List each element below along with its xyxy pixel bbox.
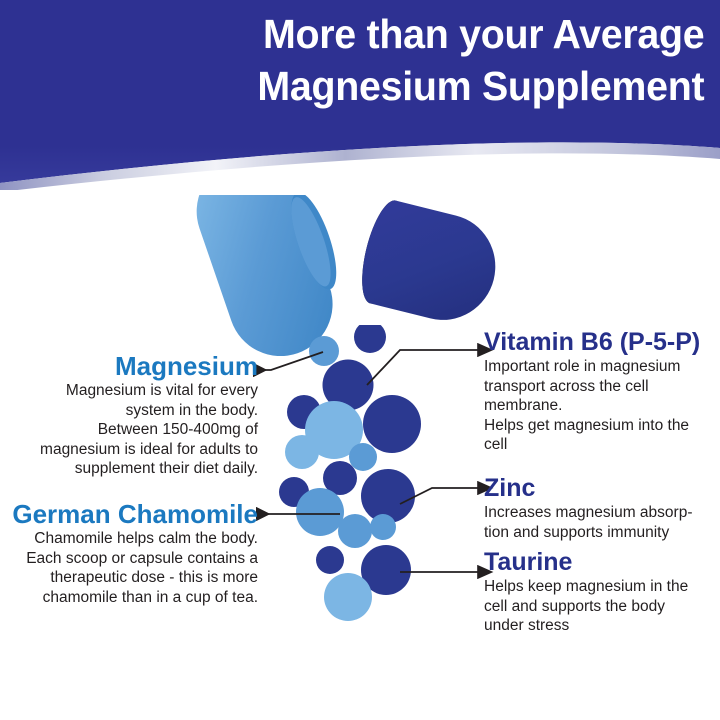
pellet-dot xyxy=(316,546,344,574)
heading-zinc: Zinc xyxy=(484,474,720,502)
header-banner: More than your Average Magnesium Supplem… xyxy=(0,0,720,190)
body-line: Important role in magnesium xyxy=(484,357,720,377)
info-block-taurine: Taurine Helps keep magnesium in the cell… xyxy=(484,548,720,636)
body-line: Between 150-400mg of xyxy=(4,420,258,440)
page-title-line2: Magnesium Supplement xyxy=(28,60,704,112)
body-line: Chamomile helps calm the body. xyxy=(0,529,258,549)
body-taurine: Helps keep magnesium in the cell and sup… xyxy=(484,577,720,636)
pellet-dot xyxy=(285,435,319,469)
capsule-half-dark xyxy=(354,196,507,331)
infographic-page: More than your Average Magnesium Supplem… xyxy=(0,0,720,720)
pellet-dot xyxy=(338,514,372,548)
pellet-cluster xyxy=(270,325,490,625)
body-line: Increases magnesium absorp- xyxy=(484,503,720,523)
pellet-dots xyxy=(279,325,421,621)
body-line: chamomile than in a cup of tea. xyxy=(0,588,258,608)
page-title-line1: More than your Average xyxy=(28,8,704,60)
heading-vitaminb6: Vitamin B6 (P-5-P) xyxy=(484,328,720,356)
body-chamomile: Chamomile helps calm the body. Each scoo… xyxy=(0,529,258,607)
body-line: Helps get magnesium into the xyxy=(484,416,720,436)
body-line: magnesium is ideal for adults to xyxy=(4,440,258,460)
body-line: tion and supports immunity xyxy=(484,523,720,543)
body-line: Magnesium is vital for every xyxy=(4,381,258,401)
body-line: membrane. xyxy=(484,396,720,416)
body-zinc: Increases magnesium absorp- tion and sup… xyxy=(484,503,720,542)
pellet-dot xyxy=(354,325,386,353)
body-line: cell xyxy=(484,435,720,455)
pellet-dot xyxy=(296,488,344,536)
body-line: transport across the cell xyxy=(484,377,720,397)
heading-taurine: Taurine xyxy=(484,548,720,576)
pellet-dot xyxy=(309,336,339,366)
body-line: therapeutic dose - this is more xyxy=(0,568,258,588)
info-block-magnesium: Magnesium Magnesium is vital for every s… xyxy=(4,352,258,479)
pellet-dot xyxy=(363,395,421,453)
heading-chamomile: German Chamomile xyxy=(0,500,258,528)
body-line: system in the body. xyxy=(4,401,258,421)
page-title: More than your Average Magnesium Supplem… xyxy=(28,8,712,112)
info-block-vitaminb6: Vitamin B6 (P-5-P) Important role in mag… xyxy=(484,328,720,455)
pellet-dot xyxy=(370,514,396,540)
pellet-dot xyxy=(361,469,415,523)
pellet-dot xyxy=(324,573,372,621)
info-block-zinc: Zinc Increases magnesium absorp- tion an… xyxy=(484,474,720,542)
body-line: cell and supports the body xyxy=(484,597,720,617)
info-block-chamomile: German Chamomile Chamomile helps calm th… xyxy=(0,500,258,607)
heading-magnesium: Magnesium xyxy=(4,352,258,380)
pellet-dot xyxy=(349,443,377,471)
body-line: supplement their diet daily. xyxy=(4,459,258,479)
body-line: under stress xyxy=(484,616,720,636)
body-line: Helps keep magnesium in the xyxy=(484,577,720,597)
body-vitaminb6: Important role in magnesium transport ac… xyxy=(484,357,720,455)
body-magnesium: Magnesium is vital for every system in t… xyxy=(4,381,258,479)
body-line: Each scoop or capsule contains a xyxy=(0,549,258,569)
